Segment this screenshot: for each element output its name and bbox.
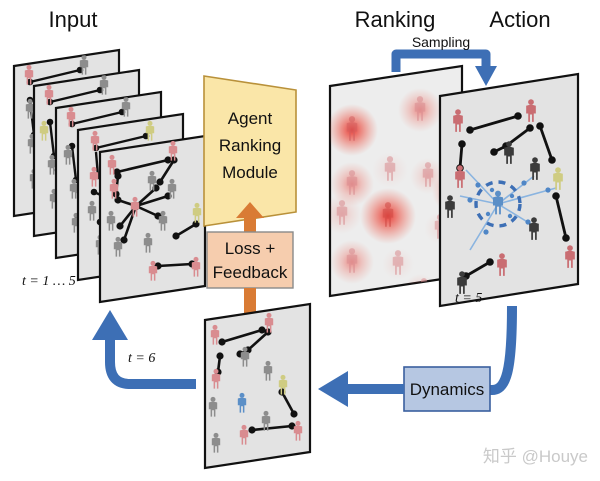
watermark: 知乎 @Houye [483,447,588,466]
next-to-input-arrow [92,310,196,384]
label-t-feedback: t = 6 [128,351,155,366]
loss-line2: Feedback [213,263,288,282]
loss-feedback-box[interactable]: Loss + Feedback [207,232,293,288]
dynamics-label: Dynamics [410,380,485,399]
agent-module-line3: Module [222,163,278,182]
label-t-input: t = 1 … 5 [22,274,76,289]
agent-module-line2: Ranking [219,136,281,155]
loss-line1: Loss + [225,239,276,258]
dynamics-box[interactable]: Dynamics [404,367,490,411]
agent-module-line1: Agent [228,109,273,128]
figure-canvas: Input Ranking Action [0,0,600,481]
label-sampling: Sampling [412,34,470,50]
title-input: Input [49,7,98,32]
action-to-dynamics-arrow [488,306,512,390]
label-t-action: t = 5 [455,291,482,306]
input-panel-5 [100,136,205,302]
dynamics-to-next-arrow [318,371,404,407]
input-panel-stack [14,50,205,302]
next-state-panel [205,304,310,468]
title-ranking: Ranking [355,7,436,32]
title-action: Action [489,7,550,32]
action-panel [440,74,578,306]
